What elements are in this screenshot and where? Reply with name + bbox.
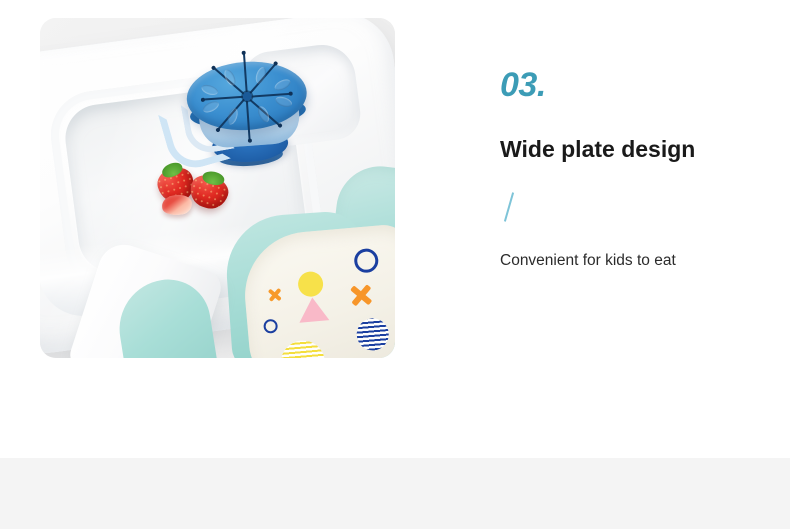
lid-center-hub [242,91,252,101]
lid-leaf-motif [256,105,272,124]
slash-divider-stroke [504,192,514,221]
slash-divider [500,190,522,224]
bottom-gray-band [0,458,790,529]
photo-backdrop [40,18,395,358]
lid-leaf-motif [222,68,238,87]
lid-leaf-motif [226,107,240,126]
cushion-shape-orange-cross-large [348,282,374,308]
cushion-shape-pink-triangle [297,296,329,323]
lid-leaf-motif [275,94,294,108]
page-root: 03. Wide plate design Convenient for kid… [0,0,790,529]
cushion-shape-yellow-striped-circle [279,339,327,358]
lid-leaf-motif [254,66,268,85]
cross-strokes [348,282,374,308]
feature-headline: Wide plate design [500,136,695,164]
cushion-shape-blue-striped-circle [355,317,390,352]
feature-content-row: 03. Wide plate design Convenient for kid… [0,0,790,458]
product-photo-panel [40,18,395,358]
step-number: 03. [500,68,546,102]
lid-leaf-motif [200,83,219,97]
cushion-shape-blue-ring-small [263,319,278,334]
suction-bowl [176,50,316,179]
feature-subtitle: Convenient for kids to eat [500,251,676,271]
cross-strokes [266,286,282,302]
lid-spoke [243,53,248,97]
cushion-shape-yellow-circle [297,271,324,298]
lid-spoke [203,96,247,101]
cushion-shape-blue-ring-large [353,248,379,274]
feature-text-column: 03. Wide plate design Convenient for kid… [500,0,780,458]
cushion-shape-orange-cross-small [266,286,282,302]
bowl-lid [185,58,309,134]
